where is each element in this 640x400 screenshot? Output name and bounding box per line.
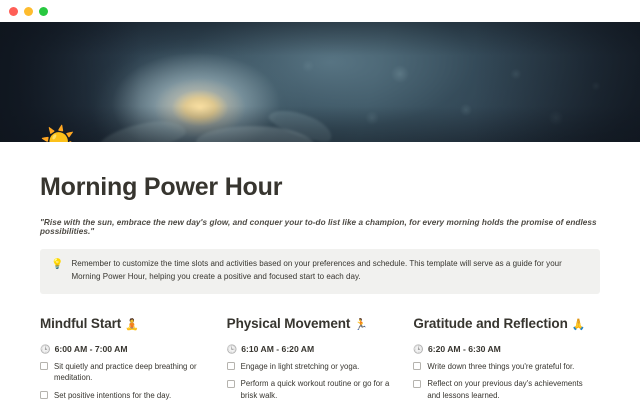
- page-quote[interactable]: "Rise with the sun, embrace the new day'…: [40, 218, 600, 236]
- cover-image[interactable]: ☀️: [0, 22, 640, 142]
- todo-item[interactable]: Perform a quick workout routine or go fo…: [227, 378, 398, 400]
- column-heading-label: Mindful Start: [40, 316, 121, 331]
- praying-hands-icon: 🙏: [572, 318, 586, 331]
- todo-list: Engage in light stretching or yoga. Perf…: [227, 361, 398, 400]
- page-title[interactable]: Morning Power Hour: [40, 173, 600, 202]
- sun-icon[interactable]: ☀️: [40, 128, 77, 142]
- todo-item[interactable]: Set positive intentions for the day.: [40, 390, 211, 400]
- minimize-window-button[interactable]: [24, 7, 33, 16]
- column-heading[interactable]: Gratitude and Reflection 🙏: [413, 316, 584, 331]
- time-slot[interactable]: 🕒 6:00 AM - 7:00 AM: [40, 344, 211, 355]
- column-heading-label: Gratitude and Reflection: [413, 316, 567, 331]
- columns-layout: Mindful Start 🧘 🕒 6:00 AM - 7:00 AM Sit …: [40, 316, 600, 400]
- column-heading[interactable]: Mindful Start 🧘: [40, 316, 211, 331]
- window-titlebar: [0, 0, 640, 22]
- checkbox-icon[interactable]: [40, 362, 48, 370]
- callout-block[interactable]: 💡 Remember to customize the time slots a…: [40, 249, 600, 294]
- time-slot[interactable]: 🕒 6:10 AM - 6:20 AM: [227, 344, 398, 355]
- cover-vignette: [0, 22, 640, 142]
- todo-label: Set positive intentions for the day.: [54, 390, 171, 400]
- callout-text: Remember to customize the time slots and…: [71, 258, 588, 284]
- todo-list: Write down three things you're grateful …: [413, 361, 584, 400]
- todo-item[interactable]: Sit quietly and practice deep breathing …: [40, 361, 211, 384]
- todo-label: Perform a quick workout routine or go fo…: [241, 378, 398, 400]
- page-content: Morning Power Hour "Rise with the sun, e…: [0, 173, 640, 400]
- checkbox-icon[interactable]: [40, 391, 48, 399]
- checkbox-icon[interactable]: [413, 362, 421, 370]
- time-slot-label: 6:10 AM - 6:20 AM: [241, 344, 314, 354]
- column-physical-movement: Physical Movement 🏃 🕒 6:10 AM - 6:20 AM …: [227, 316, 414, 400]
- time-slot-label: 6:20 AM - 6:30 AM: [428, 344, 501, 354]
- clock-icon: 🕒: [227, 344, 238, 355]
- time-slot-label: 6:00 AM - 7:00 AM: [55, 344, 128, 354]
- todo-item[interactable]: Engage in light stretching or yoga.: [227, 361, 398, 373]
- column-gratitude-reflection: Gratitude and Reflection 🙏 🕒 6:20 AM - 6…: [413, 316, 600, 400]
- lightbulb-icon: 💡: [51, 258, 63, 273]
- todo-item[interactable]: Reflect on your previous day's achieveme…: [413, 378, 584, 400]
- runner-icon: 🏃: [354, 318, 368, 331]
- clock-icon: 🕒: [413, 344, 424, 355]
- column-heading-label: Physical Movement: [227, 316, 351, 331]
- todo-label: Engage in light stretching or yoga.: [241, 361, 360, 373]
- column-mindful-start: Mindful Start 🧘 🕒 6:00 AM - 7:00 AM Sit …: [40, 316, 227, 400]
- checkbox-icon[interactable]: [413, 380, 421, 388]
- todo-item[interactable]: Write down three things you're grateful …: [413, 361, 584, 373]
- close-window-button[interactable]: [9, 7, 18, 16]
- checkbox-icon[interactable]: [227, 380, 235, 388]
- todo-label: Reflect on your previous day's achieveme…: [427, 378, 584, 400]
- checkbox-icon[interactable]: [227, 362, 235, 370]
- todo-list: Sit quietly and practice deep breathing …: [40, 361, 211, 400]
- maximize-window-button[interactable]: [39, 7, 48, 16]
- clock-icon: 🕒: [40, 344, 51, 355]
- column-heading[interactable]: Physical Movement 🏃: [227, 316, 398, 331]
- todo-label: Sit quietly and practice deep breathing …: [54, 361, 211, 384]
- app-window: ☀️ Morning Power Hour "Rise with the sun…: [0, 0, 640, 400]
- time-slot[interactable]: 🕒 6:20 AM - 6:30 AM: [413, 344, 584, 355]
- lotus-position-icon: 🧘: [125, 318, 139, 331]
- todo-label: Write down three things you're grateful …: [427, 361, 574, 373]
